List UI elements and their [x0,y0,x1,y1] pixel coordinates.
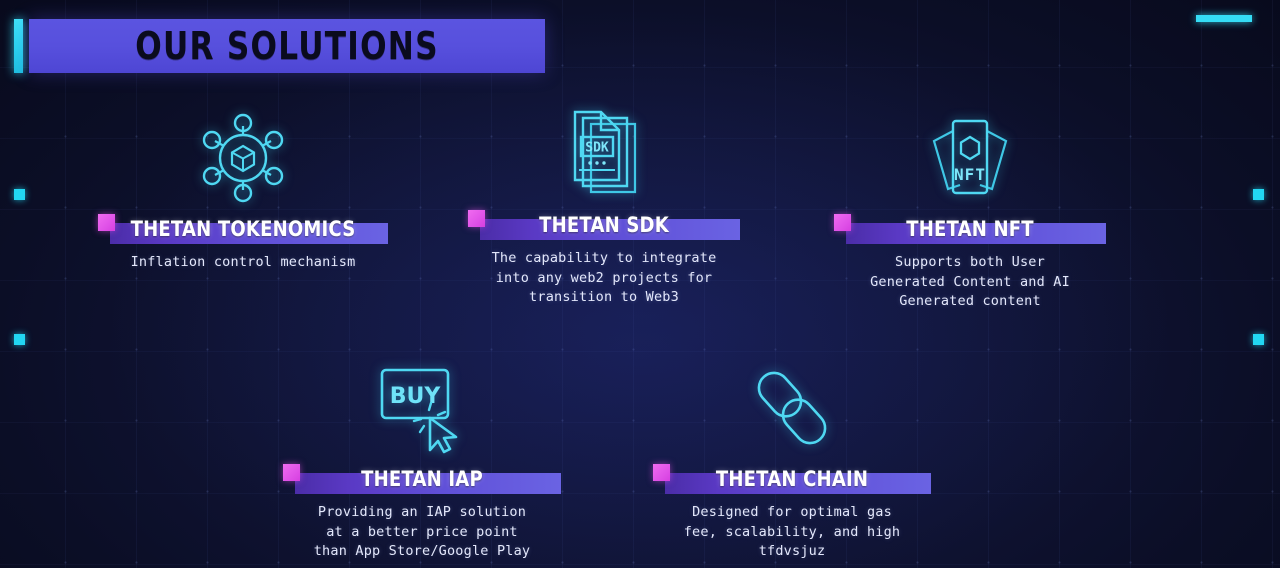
card-label-nft: THETAN NFT [834,214,1106,244]
deco-square-left-lower [14,334,25,345]
card-title: THETAN NFT [853,214,1087,244]
label-accent-square [653,464,670,481]
svg-text:BUY: BUY [390,384,442,409]
deco-bar-top-right [1196,15,1252,22]
solutions-slide: OUR SOLUTIONS THETAN TOKENOMICS Inflatio… [0,0,1280,568]
card-description: Designed for optimal gasfee, scalability… [653,503,931,562]
solution-card-iap[interactable]: BUY THETAN IAP Providing an IAP solution… [283,358,561,562]
sdk-document-icon: SDK [468,104,740,204]
tokenomics-network-cube-icon [98,108,388,208]
header-accent-bar [14,19,23,73]
card-title: THETAN TOKENOMICS [118,214,367,244]
header-banner: OUR SOLUTIONS [29,19,545,73]
chain-link-icon [653,358,931,458]
card-title: THETAN IAP [302,464,541,494]
deco-square-right-lower [1253,334,1264,345]
buy-button-cursor-icon: BUY [283,358,561,458]
card-description: Inflation control mechanism [98,253,388,273]
solution-card-chain[interactable]: THETAN CHAIN Designed for optimal gasfee… [653,358,931,562]
svg-text:SDK: SDK [585,141,609,156]
label-accent-square [468,210,485,227]
card-label-iap: THETAN IAP [283,464,561,494]
card-description: The capability to integrateinto any web2… [468,249,740,308]
card-title: THETAN CHAIN [672,464,911,494]
card-description: Supports both UserGenerated Content and … [834,253,1106,312]
card-description: Providing an IAP solutionat a better pri… [283,503,561,562]
label-accent-square [98,214,115,231]
card-label-chain: THETAN CHAIN [653,464,931,494]
section-header: OUR SOLUTIONS [14,19,545,73]
page-title: OUR SOLUTIONS [135,24,438,68]
solution-card-tokenomics[interactable]: THETAN TOKENOMICS Inflation control mech… [98,108,388,273]
label-accent-square [834,214,851,231]
deco-square-right-upper [1253,189,1264,200]
solution-card-sdk[interactable]: SDK THETAN SDK The capability to integra… [468,104,740,308]
card-label-sdk: THETAN SDK [468,210,740,240]
card-label-tokenomics: THETAN TOKENOMICS [98,214,388,244]
label-accent-square [283,464,300,481]
deco-square-left-upper [14,189,25,200]
svg-text:NFT: NFT [954,165,986,184]
nft-cards-icon: NFT [834,108,1106,208]
solution-card-nft[interactable]: NFT THETAN NFT Supports both UserGenerat… [834,108,1106,312]
card-title: THETAN SDK [487,210,721,240]
